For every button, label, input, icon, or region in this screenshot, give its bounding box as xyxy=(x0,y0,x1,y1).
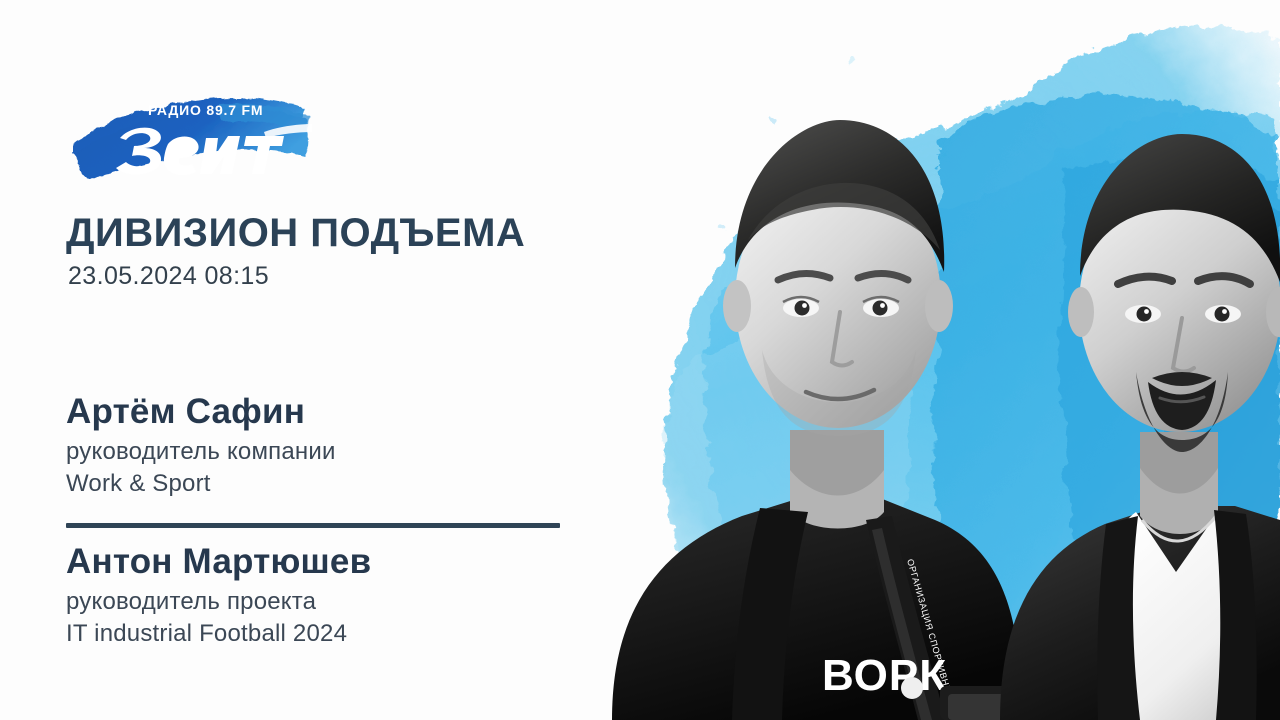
photo-left-person: ОРГАНИЗАЦИЯ СПОРТИВНЫХ МЕРОПРИЯТИЙ ВОРК xyxy=(612,120,1022,720)
lanyard-print-text: ОРГАНИЗАЦИЯ СПОРТИВНЫХ МЕРОПРИЯТИЙ xyxy=(905,558,978,720)
speaker-role-2: руководитель проекта IT industrial Footb… xyxy=(66,586,626,650)
speaker-card-2: Антон Мартюшев руководитель проекта IT i… xyxy=(66,542,626,651)
speaker-role-2-line2: IT industrial Football 2024 xyxy=(66,618,626,650)
page-title: ДИВИЗИОН ПОДЪЕМА xyxy=(66,212,686,255)
speaker-divider xyxy=(66,523,560,528)
photo-right-person xyxy=(1000,134,1280,720)
speaker-role-1-line2: Work & Sport xyxy=(66,468,626,500)
speaker-role-2-line1: руководитель проекта xyxy=(66,586,626,618)
shirt-print-text: ВОРК xyxy=(822,651,947,700)
speaker-card-1: Артём Сафин руководитель компании Work &… xyxy=(66,392,626,501)
radio-show-poster: ОРГАНИЗАЦИЯ СПОРТИВНЫХ МЕРОПРИЯТИЙ ВОРК xyxy=(0,0,1280,720)
speaker-role-1-line1: руководитель компании xyxy=(66,436,626,468)
event-datetime: 23.05.2024 08:15 xyxy=(68,263,686,291)
logo-tagline: РАДИО 89.7 FM xyxy=(148,102,263,118)
speaker-role-1: руководитель компании Work & Sport xyxy=(66,436,626,500)
speakers-list: Артём Сафин руководитель компании Work &… xyxy=(66,392,626,650)
radio-zenit-logo[interactable]: РАДИО 89.7 FM xyxy=(68,82,318,182)
speaker-name-2: Антон Мартюшев xyxy=(66,542,626,582)
speaker-name-1: Артём Сафин xyxy=(66,392,626,432)
event-heading-block: ДИВИЗИОН ПОДЪЕМА 23.05.2024 08:15 xyxy=(66,212,686,291)
